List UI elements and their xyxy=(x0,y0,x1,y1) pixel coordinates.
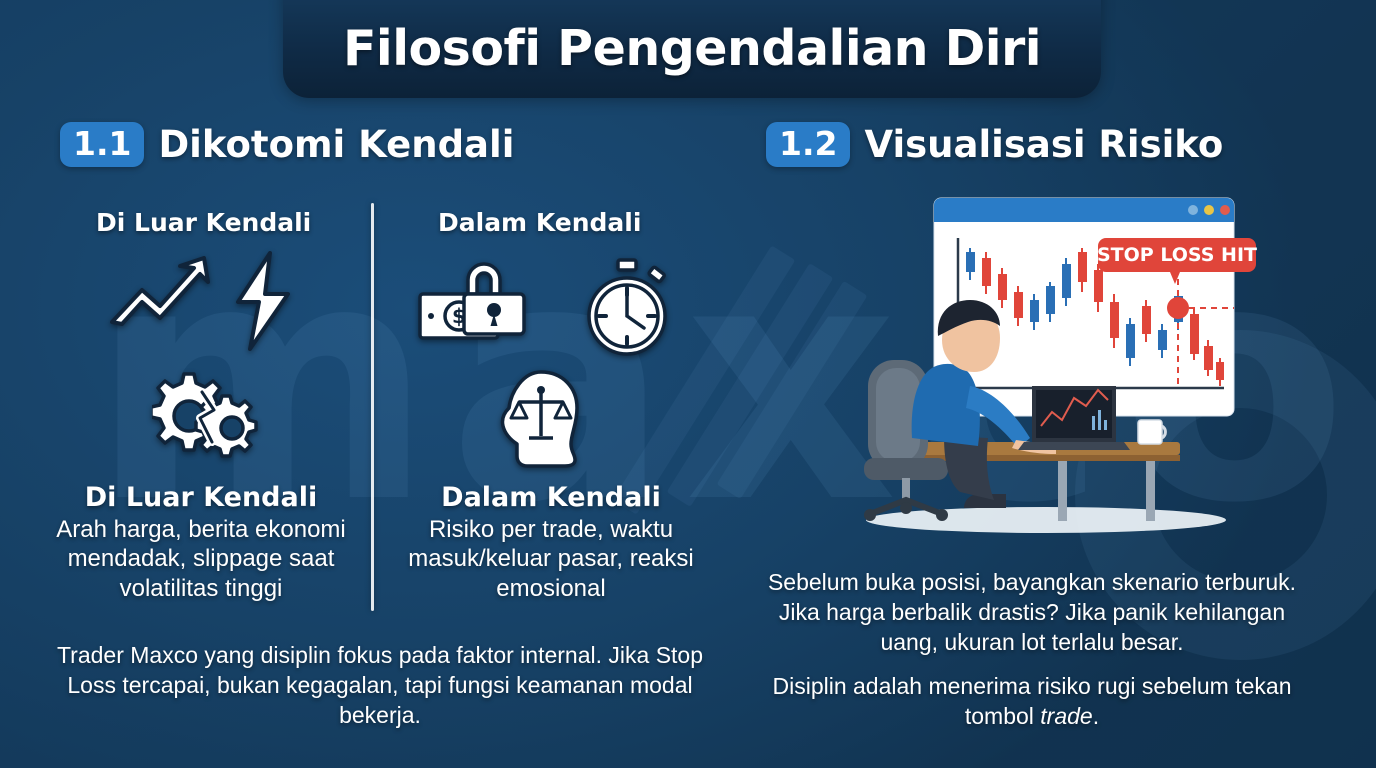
column-heading-out-of-control: Di Luar Kendali xyxy=(96,208,311,237)
infographic-canvas: maxco Filosofi Pengendalian Diri 1.1 Dik… xyxy=(0,0,1376,768)
stopwatch-icon xyxy=(582,258,674,358)
coffee-mug xyxy=(1138,420,1165,444)
caption-out-of-control: Di Luar Kendali Arah harga, berita ekono… xyxy=(36,482,366,603)
caption-body: Risiko per trade, waktu masuk/keluar pas… xyxy=(386,515,716,603)
section-number-badge: 1.1 xyxy=(60,122,144,167)
watermark-stripe xyxy=(717,281,868,499)
money-lock-icon: $ xyxy=(416,262,536,354)
risk-paragraph-1: Sebelum buka posisi, bayangkan skenario … xyxy=(752,568,1312,658)
section-header-1: 1.1 Dikotomi Kendali xyxy=(60,122,514,167)
trader-at-desk-illustration: STOP LOSS HIT xyxy=(846,190,1266,540)
risk-paragraph-2: Disiplin adalah menerima risiko rugi seb… xyxy=(752,672,1312,732)
risk-paragraph-2-suffix: . xyxy=(1093,703,1099,729)
section-header-2: 1.2 Visualisasi Risiko xyxy=(766,122,1223,167)
column-heading-in-control: Dalam Kendali xyxy=(438,208,641,237)
trending-up-arrow-icon xyxy=(108,252,218,330)
caption-title: Dalam Kendali xyxy=(386,482,716,513)
head-balance-scale-icon xyxy=(493,368,589,468)
column-divider xyxy=(371,203,374,611)
caption-body: Arah harga, berita ekonomi mendadak, sli… xyxy=(36,515,366,603)
stop-loss-alert-text: STOP LOSS HIT xyxy=(1097,244,1257,266)
caption-in-control: Dalam Kendali Risiko per trade, waktu ma… xyxy=(386,482,716,603)
laptop xyxy=(1018,386,1130,450)
section-title: Dikotomi Kendali xyxy=(158,123,514,166)
section-title: Visualisasi Risiko xyxy=(864,123,1223,166)
watermark-stripe xyxy=(667,263,834,507)
risk-paragraph-2-italic: trade xyxy=(1040,703,1092,729)
caption-title: Di Luar Kendali xyxy=(36,482,366,513)
risk-paragraph-2-prefix: Disiplin adalah menerima risiko rugi seb… xyxy=(772,673,1291,729)
page-title: Filosofi Pengendalian Diri xyxy=(343,8,1041,77)
lightning-bolt-icon xyxy=(228,250,298,352)
footnote-left: Trader Maxco yang disiplin fokus pada fa… xyxy=(40,641,720,731)
broken-gears-icon xyxy=(152,368,260,464)
section-number-badge: 1.2 xyxy=(766,122,850,167)
title-banner: Filosofi Pengendalian Diri xyxy=(283,0,1101,98)
